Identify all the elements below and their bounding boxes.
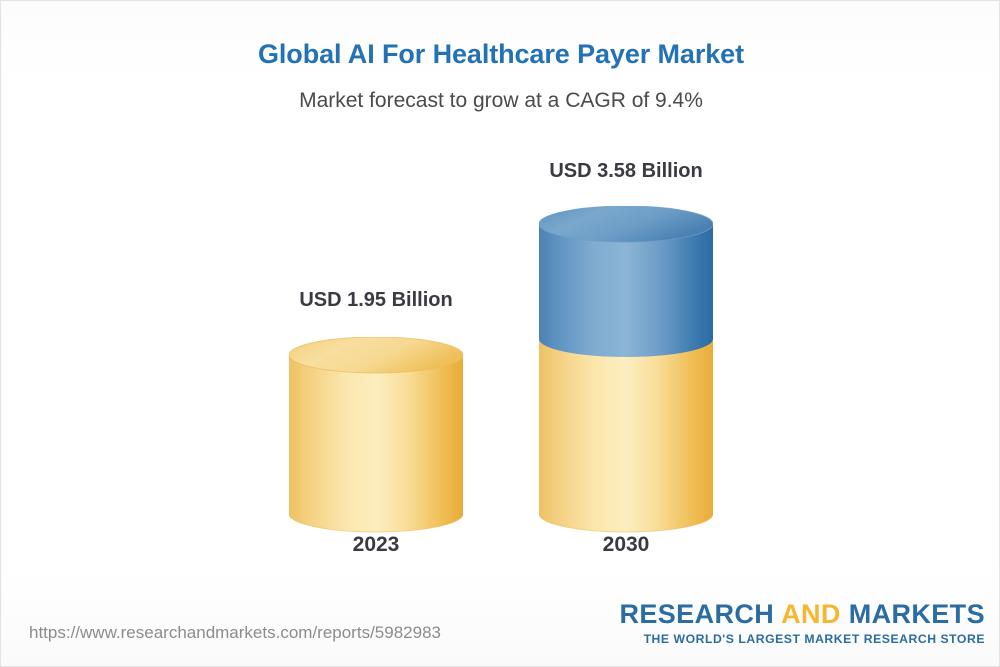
research-and-markets-logo: RESEARCH AND MARKETS THE WORLD'S LARGEST… — [619, 601, 985, 645]
bar-cylinder-2023 — [289, 337, 463, 533]
chart-title: Global AI For Healthcare Payer Market — [1, 39, 1000, 70]
value-label-2023: USD 1.95 Billion — [276, 289, 476, 312]
logo-wordmark: RESEARCH AND MARKETS — [619, 601, 985, 628]
logo-tagline: THE WORLD'S LARGEST MARKET RESEARCH STOR… — [619, 633, 985, 645]
cylinder-2023-graphic — [289, 337, 463, 533]
chart-image: Global AI For Healthcare Payer Market Ma… — [0, 0, 1000, 667]
logo-word-markets: MARKETS — [849, 599, 985, 629]
chart-subtitle: Market forecast to grow at a CAGR of 9.4… — [1, 89, 1000, 113]
report-url[interactable]: https://www.researchandmarkets.com/repor… — [29, 623, 441, 643]
cylinder-2030-graphic — [539, 206, 713, 533]
logo-word-and: AND — [781, 599, 849, 629]
category-label-2030: 2030 — [526, 533, 726, 557]
category-label-2023: 2023 — [276, 533, 476, 557]
value-label-2030: USD 3.58 Billion — [526, 160, 726, 183]
logo-word-research: RESEARCH — [619, 599, 781, 629]
bar-cylinder-2030 — [539, 206, 713, 533]
